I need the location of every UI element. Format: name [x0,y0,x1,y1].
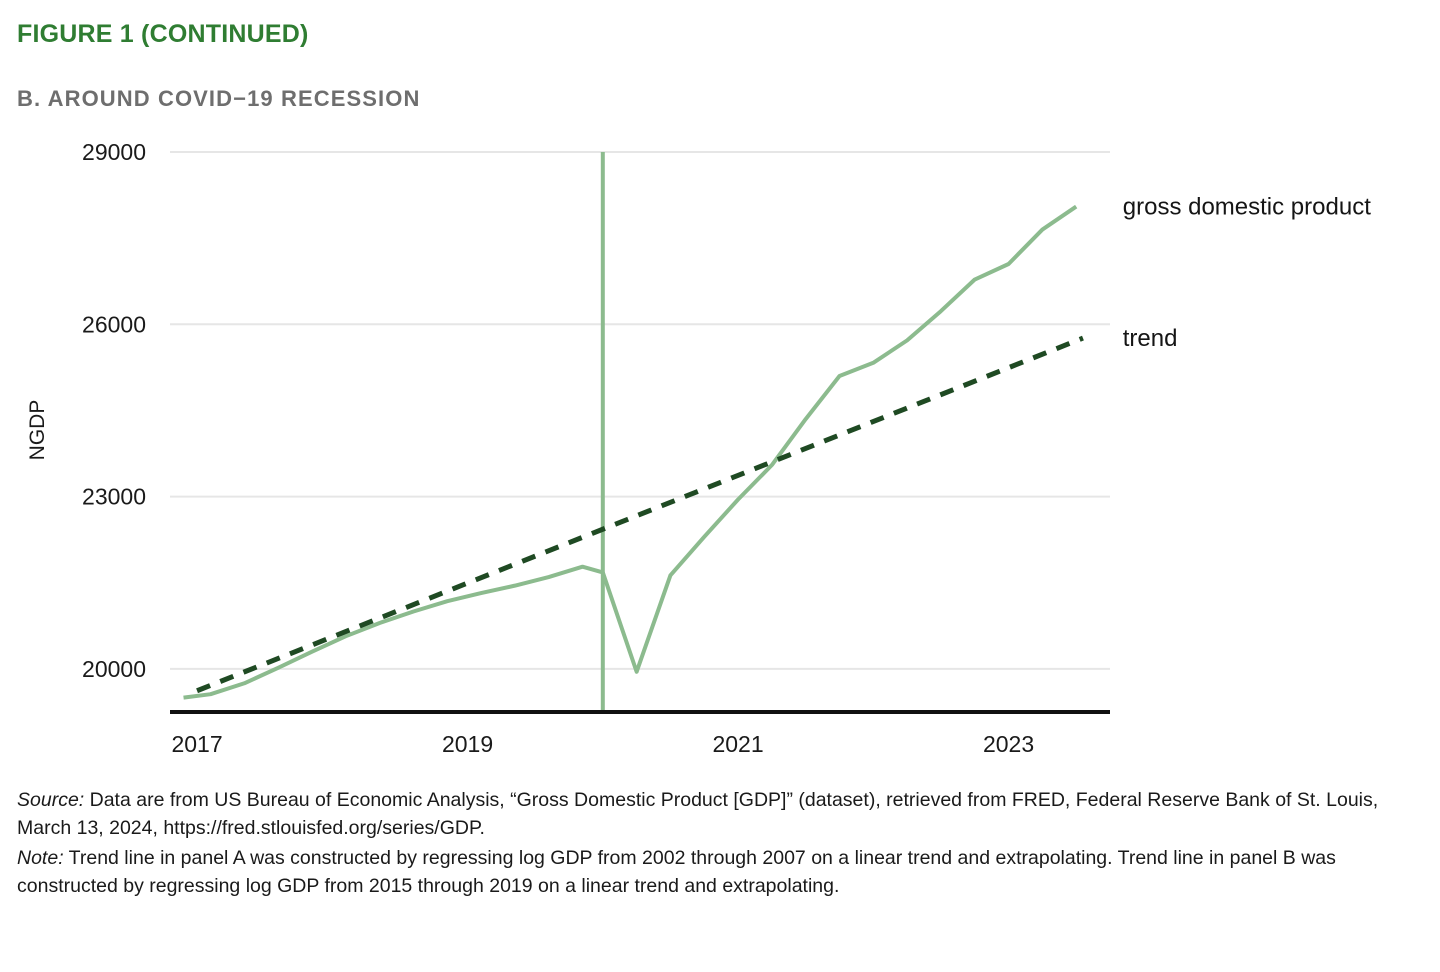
x-tick-label: 2023 [983,731,1034,757]
note-label: Note: [17,847,64,869]
series-line-trend [197,338,1083,691]
panel-title: B. AROUND COVID−19 RECESSION [17,86,420,112]
chart-container: 20000230002600029000 2017201920212023 gr… [0,130,1440,780]
y-tick-label: 29000 [82,139,146,165]
series-label-gross-domestic-product: gross domestic product [1123,194,1371,221]
source-label: Source: [17,789,84,811]
series-label-trend: trend [1123,325,1178,352]
source-text: Data are from US Bureau of Economic Anal… [17,789,1378,839]
gridlines [170,152,1110,669]
source-note: Source: Data are from US Bureau of Econo… [17,786,1417,842]
y-tick-label: 20000 [82,656,146,682]
series-line-gross-domestic-product [184,207,1077,698]
note-text: Trend line in panel A was constructed by… [17,847,1336,897]
y-tick-label: 26000 [82,311,146,337]
y-axis-title: NGDP [26,400,49,461]
method-note: Note: Trend line in panel A was construc… [17,844,1417,900]
y-tick-label: 23000 [82,484,146,510]
ngdp-line-chart: 20000230002600029000 2017201920212023 gr… [0,130,1440,780]
x-axis-tick-labels: 2017201920212023 [171,731,1034,757]
series-lines [184,207,1083,698]
x-tick-label: 2017 [171,731,222,757]
figure-title: FIGURE 1 (CONTINUED) [17,20,309,49]
x-tick-label: 2019 [442,731,493,757]
series-inline-labels: gross domestic producttrend [1123,194,1371,353]
figure-page: FIGURE 1 (CONTINUED) B. AROUND COVID−19 … [0,0,1440,972]
x-tick-label: 2021 [712,731,763,757]
y-axis-tick-labels: 20000230002600029000 [82,139,146,682]
footnotes: Source: Data are from US Bureau of Econo… [17,786,1417,900]
